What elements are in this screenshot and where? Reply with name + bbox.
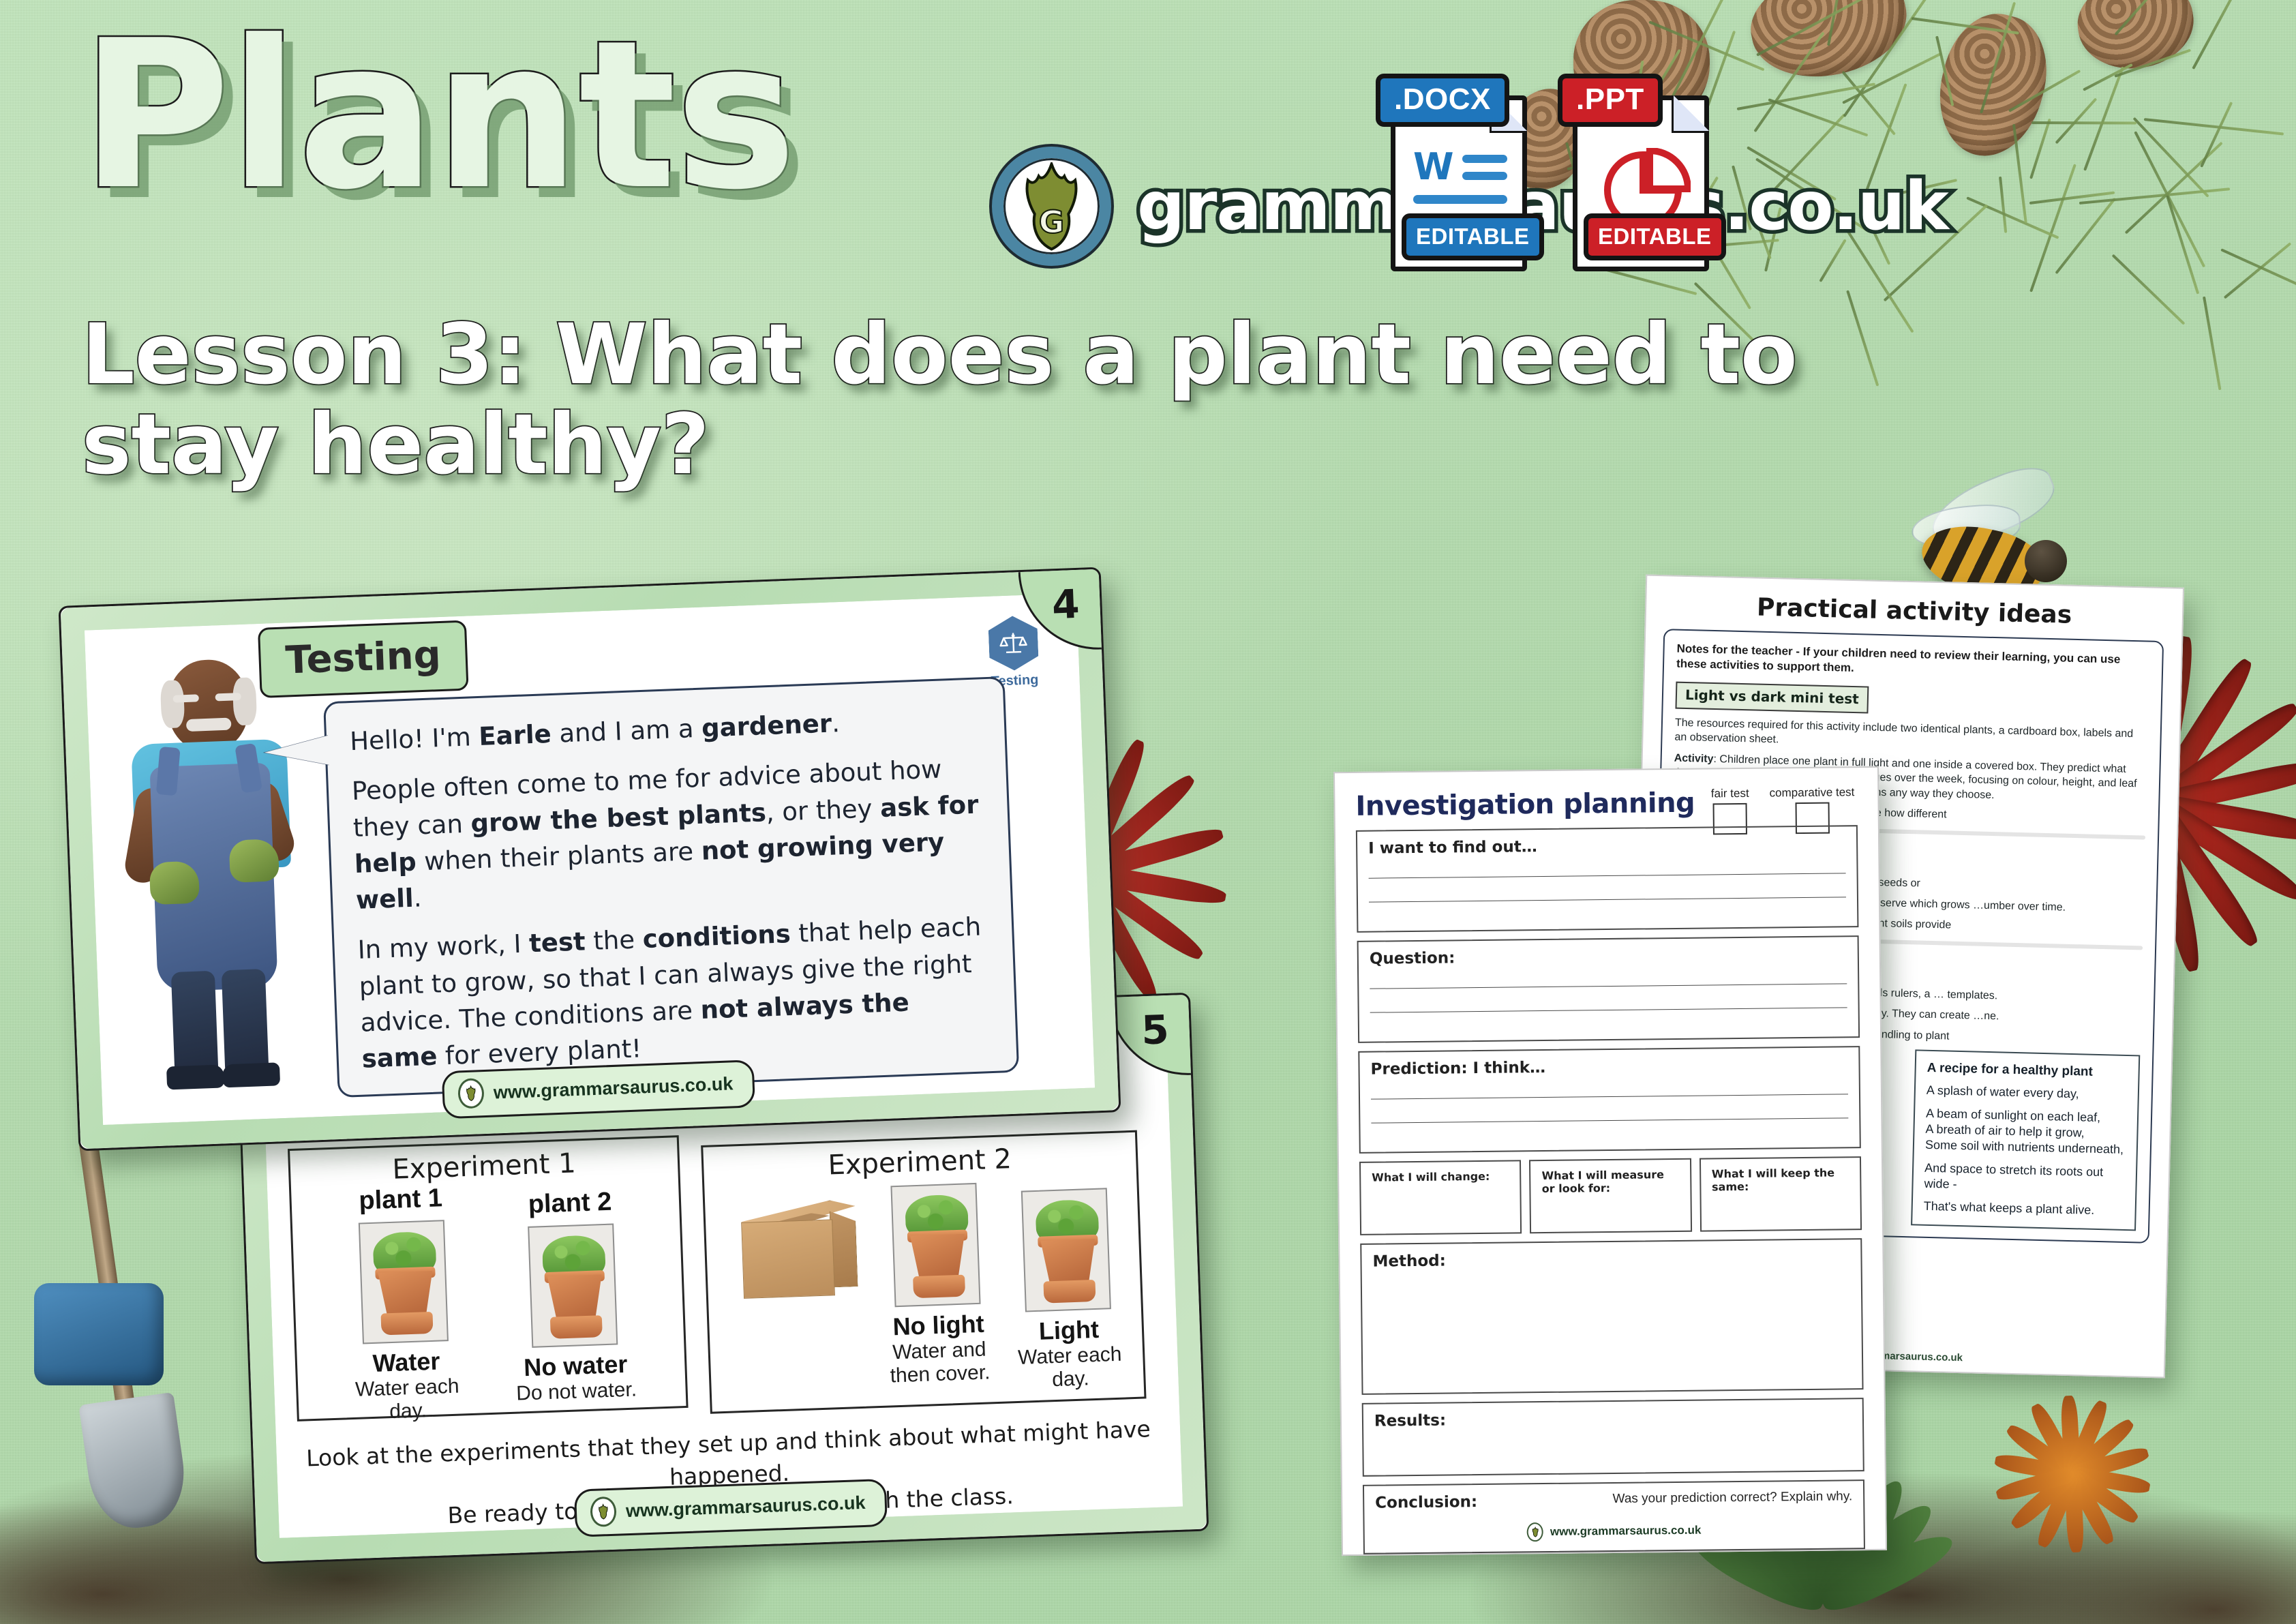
mini-logo-icon xyxy=(1527,1522,1543,1542)
activity-1-resources: The resources required for this activity… xyxy=(1674,716,2148,757)
fair-test-label: fair test xyxy=(1711,787,1749,801)
question-field[interactable]: Question: xyxy=(1357,935,1860,1043)
what-will-change-field[interactable]: What I will change: xyxy=(1359,1160,1522,1235)
plant-2-instruction: Do not water. xyxy=(509,1378,644,1406)
plant-1-label: plant 1 xyxy=(333,1183,468,1217)
method-label: Method: xyxy=(1372,1248,1849,1270)
plant-2-label: plant 2 xyxy=(502,1186,637,1220)
results-field[interactable]: Results: xyxy=(1362,1398,1864,1477)
light-condition: Light xyxy=(1003,1314,1134,1347)
page-subtitle: Lesson 3: What does a plant need to stay… xyxy=(82,310,1854,490)
prediction-field[interactable]: Prediction: I think… xyxy=(1358,1046,1861,1154)
what-keep-same-label: What I will keep the same: xyxy=(1712,1166,1849,1193)
speech-p1-a: Hello! I'm xyxy=(349,722,479,756)
docx-editable-label: EDITABLE xyxy=(1402,213,1544,260)
investigation-planning-worksheet[interactable]: Investigation planning fair test compara… xyxy=(1333,766,1887,1556)
slide-5-footer-url: www.grammarsaurus.co.uk xyxy=(625,1492,865,1521)
speech-paragraph-2: People often come to me for advice about… xyxy=(351,750,986,919)
teacher-note: Notes for the teacher - If your children… xyxy=(1676,642,2150,684)
docx-extension-label: .DOCX xyxy=(1376,74,1509,127)
results-label: Results: xyxy=(1374,1407,1852,1430)
header-region: Plants Lesson 3: What does a plant need … xyxy=(0,0,1841,559)
speech-p2-b: grow the best plants xyxy=(470,798,767,838)
speech-paragraph-3: In my work, I test the conditions that h… xyxy=(357,909,992,1078)
prediction-label: Prediction: I think… xyxy=(1370,1055,1847,1078)
find-out-label: I want to find out… xyxy=(1368,834,1845,857)
experiment-1-box: Experiment 1 plant 1 Water Water each da… xyxy=(288,1135,689,1422)
speech-p2-e: when their plants are xyxy=(416,837,702,877)
plant-photo xyxy=(359,1220,449,1344)
experiment-1-item-2: plant 2 No water Do not water. xyxy=(502,1186,644,1406)
poem-line: And space to stretch its roots out wide … xyxy=(1924,1160,2125,1197)
docx-badge: W .DOCX EDITABLE xyxy=(1391,74,1537,271)
ppt-editable-label: EDITABLE xyxy=(1584,213,1726,260)
speech-paragraph-1: Hello! I'm Earle and I am a gardener. xyxy=(349,700,980,760)
plant-2-condition: No water xyxy=(509,1349,643,1383)
conclusion-note: Was your prediction correct? Explain why… xyxy=(1612,1489,1852,1507)
speech-p3-c: the xyxy=(585,925,644,957)
what-will-measure-label: What I will measure or look for: xyxy=(1541,1168,1679,1195)
speech-p2-c: , or they xyxy=(766,794,881,827)
plant-photo xyxy=(528,1224,618,1348)
activity-1-label: Activity xyxy=(1674,752,1714,764)
no-light-instruction: Water and then cover. xyxy=(871,1337,1008,1388)
slide-4-card[interactable]: 4 Testing Testing xyxy=(59,567,1121,1152)
experiment-2-item-1: No light Water and then cover. xyxy=(865,1182,1008,1389)
plant-1-instruction: Water each day. xyxy=(340,1374,475,1426)
speech-p1-role: gardener xyxy=(701,709,832,743)
experiment-1-item-1: plant 1 Water Water each day. xyxy=(333,1183,475,1426)
ppt-extension-label: .PPT xyxy=(1558,74,1663,127)
comparative-test-label: comparative test xyxy=(1770,785,1855,800)
what-will-measure-field[interactable]: What I will measure or look for: xyxy=(1529,1158,1691,1233)
gardener-speech-bubble: Hello! I'm Earle and I am a gardener. Pe… xyxy=(323,676,1019,1098)
slide-5-instruction-line2a: Be ready to xyxy=(447,1497,586,1529)
dinosaur-head-icon: G xyxy=(1012,166,1091,246)
slide-4-footer-url: www.grammarsaurus.co.uk xyxy=(493,1073,734,1103)
page-title: Plants xyxy=(80,14,796,218)
speech-p3-a: In my work, I xyxy=(357,929,530,965)
conclusion-field[interactable]: Conclusion: Was your prediction correct?… xyxy=(1363,1479,1865,1554)
mini-logo-icon xyxy=(590,1497,617,1527)
practical-title: Practical activity ideas xyxy=(1664,591,2165,631)
speech-p1-name: Earle xyxy=(479,719,552,751)
cardboard-box-icon xyxy=(729,1195,862,1302)
find-out-field[interactable]: I want to find out… xyxy=(1356,825,1859,933)
svg-text:G: G xyxy=(1039,204,1064,240)
variables-row: What I will change: What I will measure … xyxy=(1359,1156,1862,1235)
speech-p3-d: conditions xyxy=(642,919,791,954)
light-instruction: Water each day. xyxy=(1005,1342,1136,1394)
experiment-2-item-2: Light Water each day. xyxy=(999,1187,1136,1393)
plant-1-condition: Water xyxy=(339,1346,473,1379)
experiment-2-box: Experiment 2 No light Water and then cov… xyxy=(701,1130,1146,1414)
speech-p2-g: . xyxy=(413,883,422,912)
healthy-plant-poem-box: A recipe for a healthy plant A splash of… xyxy=(1911,1050,2140,1231)
mini-logo-icon xyxy=(457,1078,485,1109)
method-field[interactable]: Method: xyxy=(1360,1238,1863,1395)
file-format-badges: W .DOCX EDITABLE xyxy=(1391,74,1719,271)
what-keep-same-field[interactable]: What I will keep the same: xyxy=(1700,1156,1862,1231)
ppt-badge: .PPT EDITABLE xyxy=(1573,74,1719,271)
speech-p1-e: . xyxy=(831,708,840,738)
poem-title: A recipe for a healthy plant xyxy=(1927,1061,2127,1081)
worksheet-footer-url: www.grammarsaurus.co.uk xyxy=(1550,1524,1702,1539)
activity-1-chip: Light vs dark mini test xyxy=(1675,682,1869,714)
plant-photo xyxy=(1021,1188,1111,1312)
grammarsaurus-logo: G xyxy=(992,147,1111,266)
balance-scales-icon xyxy=(988,615,1039,672)
gardener-character-illustration xyxy=(101,652,321,1089)
speech-p1-c: and I am a xyxy=(551,714,702,749)
plant-photo xyxy=(890,1183,980,1307)
speech-p3-b: test xyxy=(528,927,586,959)
what-will-change-label: What I will change: xyxy=(1372,1170,1509,1184)
question-label: Question: xyxy=(1370,945,1847,967)
slide-4-wrapper[interactable]: 4 Testing Testing xyxy=(59,567,1121,1152)
no-light-condition: No light xyxy=(870,1309,1007,1342)
